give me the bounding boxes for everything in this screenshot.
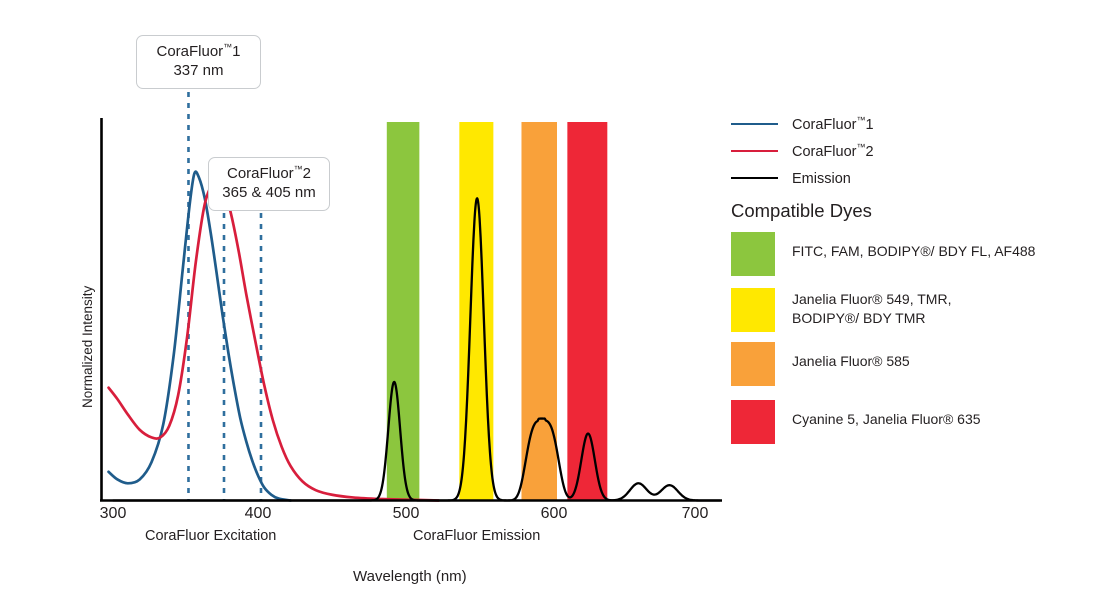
emission-filter-bands: [387, 122, 608, 501]
callout-corafluor2: CoraFluor™2 365 & 405 nm: [208, 157, 330, 211]
region-label-excitation: CoraFluor Excitation: [145, 528, 276, 544]
dye-color-swatch: [731, 342, 775, 386]
callout-corafluor1: CoraFluor™1 337 nm: [136, 35, 261, 89]
orange-band: [521, 122, 557, 501]
dye-item-1: FITC, FAM, BODIPY®/ BDY FL, AF488: [731, 232, 1103, 276]
x-tick-600: 600: [524, 505, 584, 523]
dye-label: Janelia Fluor® 585: [792, 342, 910, 371]
callout-value: 365 & 405 nm: [219, 184, 319, 203]
callout-title: CoraFluor™1: [156, 43, 240, 60]
dye-item-3: Janelia Fluor® 585: [731, 342, 1103, 386]
x-tick-700: 700: [665, 505, 725, 523]
dye-color-swatch: [731, 288, 775, 332]
fluorescence-spectra-chart: Normalized Intensity 300 400 500 600 700…: [0, 0, 1110, 612]
legend-item-1: CoraFluor™1: [731, 110, 1101, 137]
dye-label: Janelia Fluor® 549, TMR,BODIPY®/ BDY TMR: [792, 288, 951, 329]
callout-title: CoraFluor™2: [227, 165, 311, 182]
dye-item-4: Cyanine 5, Janelia Fluor® 635: [731, 400, 1103, 444]
dye-item-2: Janelia Fluor® 549, TMR,BODIPY®/ BDY TMR: [731, 288, 1103, 332]
legend-item-label: Emission: [792, 169, 851, 187]
legend-item-label: CoraFluor™2: [792, 142, 874, 160]
x-tick-500: 500: [376, 505, 436, 523]
red-band: [567, 122, 607, 501]
excitation-marker-lines: [188, 92, 261, 501]
dye-label: Cyanine 5, Janelia Fluor® 635: [792, 400, 981, 429]
compatible-dyes-title: Compatible Dyes: [731, 200, 872, 222]
dye-color-swatch: [731, 400, 775, 444]
y-axis-label: Normalized Intensity: [80, 286, 95, 408]
green-band: [387, 122, 420, 501]
legend-item-label: CoraFluor™1: [792, 115, 874, 133]
x-axis-label: Wavelength (nm): [353, 568, 467, 585]
dye-label: FITC, FAM, BODIPY®/ BDY FL, AF488: [792, 232, 1035, 261]
curve-corafluor1: [109, 172, 291, 501]
legend-item-3: Emission: [731, 164, 1101, 191]
legend-line-swatch: [731, 123, 778, 125]
callout-value: 337 nm: [147, 62, 250, 81]
dye-color-swatch: [731, 232, 775, 276]
x-tick-300: 300: [83, 505, 143, 523]
x-tick-400: 400: [228, 505, 288, 523]
region-label-emission: CoraFluor Emission: [413, 528, 540, 544]
legend-line-swatch: [731, 177, 778, 179]
compatible-dyes-list: FITC, FAM, BODIPY®/ BDY FL, AF488Janelia…: [731, 232, 1103, 456]
series-legend: CoraFluor™1CoraFluor™2Emission: [731, 110, 1101, 191]
legend-line-swatch: [731, 150, 778, 152]
legend-item-2: CoraFluor™2: [731, 137, 1101, 164]
